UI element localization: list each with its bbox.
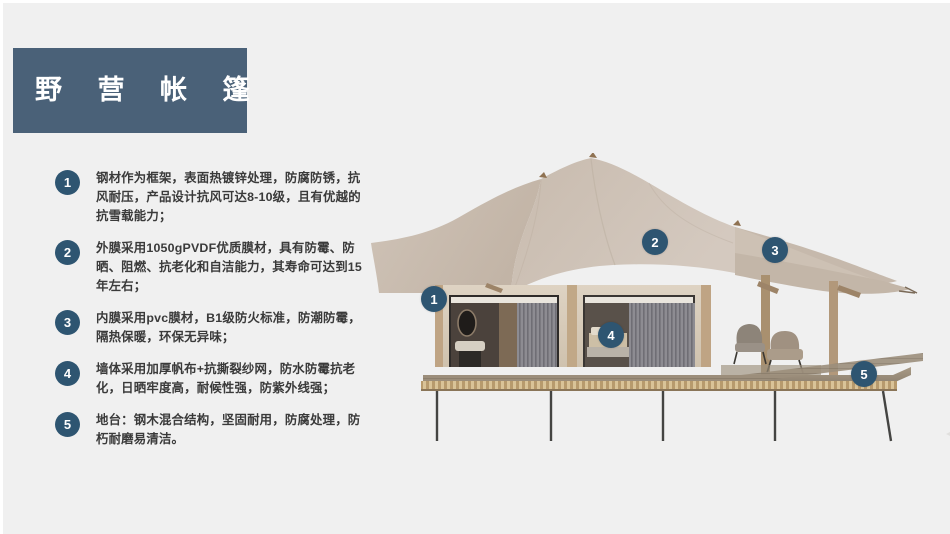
callout-badge-5: 5 <box>851 361 877 387</box>
list-item-text-2: 外膜采用1050gPVDF优质膜材，具有防霉、防晒、阻燃、抗老化和自洁能力，其寿… <box>96 239 364 296</box>
list-item-text-3: 内膜采用pvc膜材，B1级防火标准，防潮防霉，隔热保暖，环保无异味； <box>96 309 364 347</box>
callout-badge-4: 4 <box>598 322 624 348</box>
callout-badge-1: 1 <box>421 286 447 312</box>
list-item: 3 内膜采用pvc膜材，B1级防火标准，防潮防霉，隔热保暖，环保无异味； <box>55 309 375 347</box>
deck-leg-5 <box>883 391 891 441</box>
tent-graphic <box>363 153 950 453</box>
curtain-right <box>629 303 695 367</box>
mirror-decor <box>458 310 476 336</box>
curtain-left <box>517 303 557 367</box>
list-item: 2 外膜采用1050gPVDF优质膜材，具有防霉、防晒、阻燃、抗老化和自洁能力，… <box>55 239 375 296</box>
cabin-post-mid <box>567 285 577 367</box>
list-item-badge-3: 3 <box>55 310 80 335</box>
callout-badge-2: 2 <box>642 229 668 255</box>
vanity-base-decor <box>459 351 481 367</box>
vanity-decor <box>455 341 485 351</box>
callout-badge-3: 3 <box>762 237 788 263</box>
tent-peak-center <box>589 153 597 158</box>
list-item-badge-2: 2 <box>55 240 80 265</box>
list-item-text-4: 墙体采用加厚帆布+抗撕裂纱网，防水防霉抗老化，日晒牢度高，耐候性强，防紫外线强； <box>96 360 364 398</box>
feature-list: 1 钢材作为框架，表面热镀锌处理，防腐防锈，抗风耐压，产品设计抗风可达8-10级… <box>55 169 375 462</box>
list-item-text-1: 钢材作为框架，表面热镀锌处理，防腐防锈，抗风耐压，产品设计抗风可达8-10级，且… <box>96 169 364 226</box>
deck-edge-fascia <box>421 381 897 390</box>
list-item: 5 地台：钢木混合结构，坚固耐用，防腐处理，防朽耐磨易清洁。 <box>55 411 375 449</box>
wood-panel-decor <box>499 303 517 367</box>
watermark-subtext: C A M P I N G <box>936 460 950 466</box>
page-title-banner: 野 营 帐 篷 <box>13 48 247 133</box>
page-title: 野 营 帐 篷 <box>13 77 264 104</box>
list-item-badge-1: 1 <box>55 170 80 195</box>
tent-membrane-center <box>511 158 735 293</box>
cabin-post-right <box>701 285 711 367</box>
bed-base-decor <box>587 347 629 357</box>
list-item-badge-5: 5 <box>55 412 80 437</box>
deck-legs <box>437 391 891 441</box>
list-item: 4 墙体采用加厚帆布+抗撕裂纱网，防水防霉抗老化，日晒牢度高，耐候性强，防紫外线… <box>55 360 375 398</box>
deck-edge-shadow <box>421 389 897 391</box>
list-item-text-5: 地台：钢木混合结构，坚固耐用，防腐处理，防朽耐磨易清洁。 <box>96 411 364 449</box>
tent-peak-right <box>733 220 741 226</box>
list-item: 1 钢材作为框架，表面热镀锌处理，防腐防锈，抗风耐压，产品设计抗风可达8-10级… <box>55 169 375 226</box>
list-item-badge-4: 4 <box>55 361 80 386</box>
slide-page: 野 营 帐 篷 1 钢材作为框架，表面热镀锌处理，防腐防锈，抗风耐压，产品设计抗… <box>0 0 950 534</box>
camping-tent-illustration: 野 测 营 居 C A M P I N G <box>363 153 950 453</box>
cabin-window-left <box>449 295 559 367</box>
tent-peak-left <box>539 172 547 178</box>
